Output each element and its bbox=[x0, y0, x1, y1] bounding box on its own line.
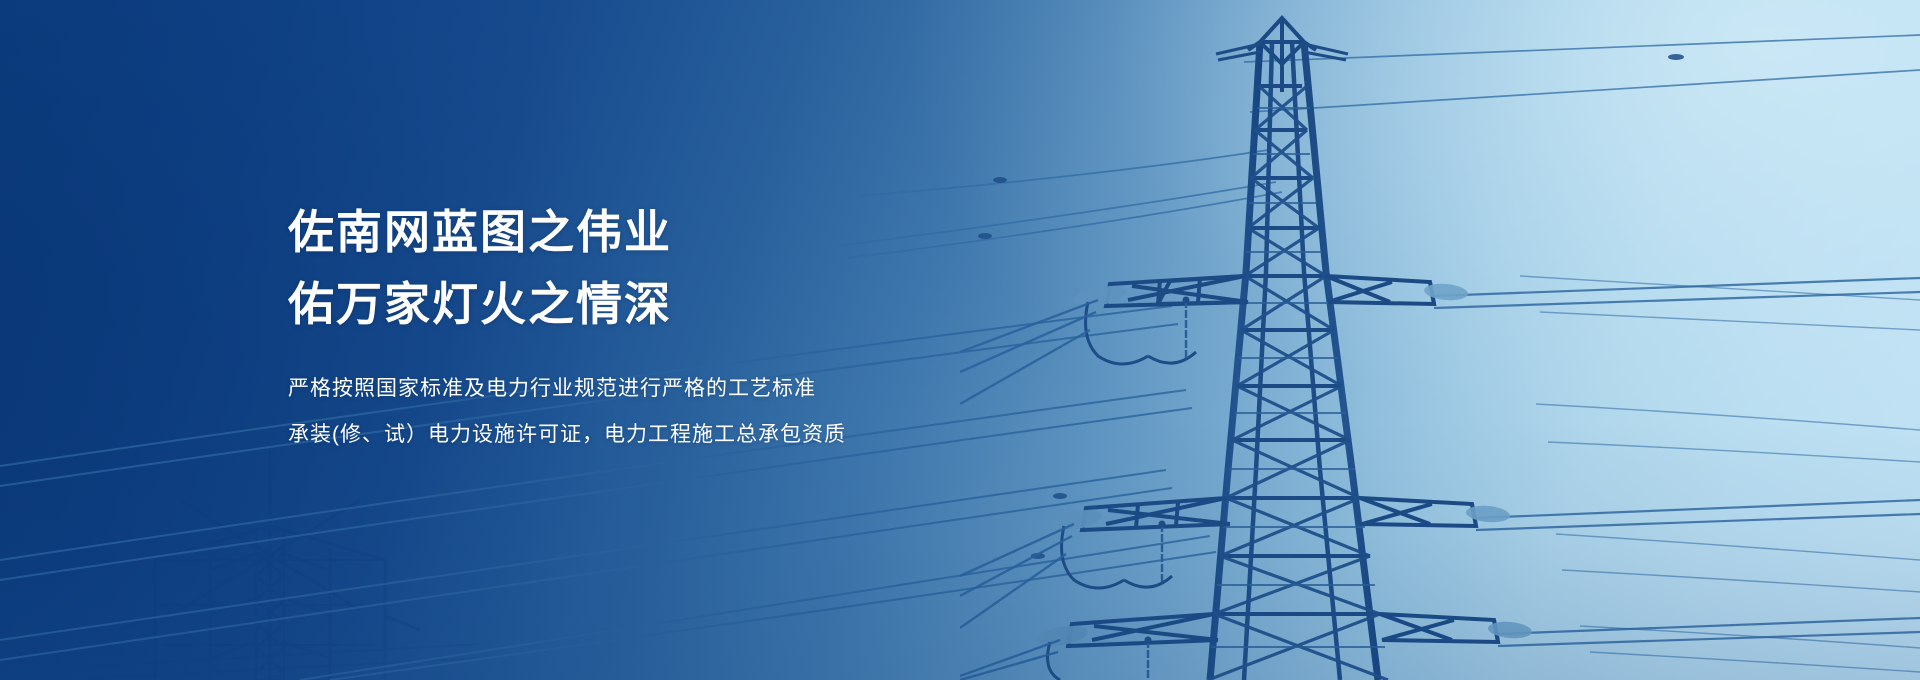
hero-banner: 佐南网蓝图之伟业 佑万家灯火之情深 严格按照国家标准及电力行业规范进行严格的工艺… bbox=[0, 0, 1920, 680]
hero-subtitle-block: 严格按照国家标准及电力行业规范进行严格的工艺标准 承装(修、试）电力设施许可证，… bbox=[288, 366, 1048, 458]
bottom-vignette bbox=[0, 420, 1920, 680]
insulator-icon bbox=[1073, 283, 1196, 364]
hero-subtitle-line-2: 承装(修、试）电力设施许可证，电力工程施工总承包资质 bbox=[288, 412, 1048, 458]
hero-headline-line-2: 佑万家灯火之情深 bbox=[288, 268, 1048, 340]
hero-subtitle-line-1: 严格按照国家标准及电力行业规范进行严格的工艺标准 bbox=[288, 366, 1048, 412]
hero-copy-block: 佐南网蓝图之伟业 佑万家灯火之情深 严格按照国家标准及电力行业规范进行严格的工艺… bbox=[288, 196, 1048, 458]
hero-headline-line-1: 佐南网蓝图之伟业 bbox=[288, 196, 1048, 268]
